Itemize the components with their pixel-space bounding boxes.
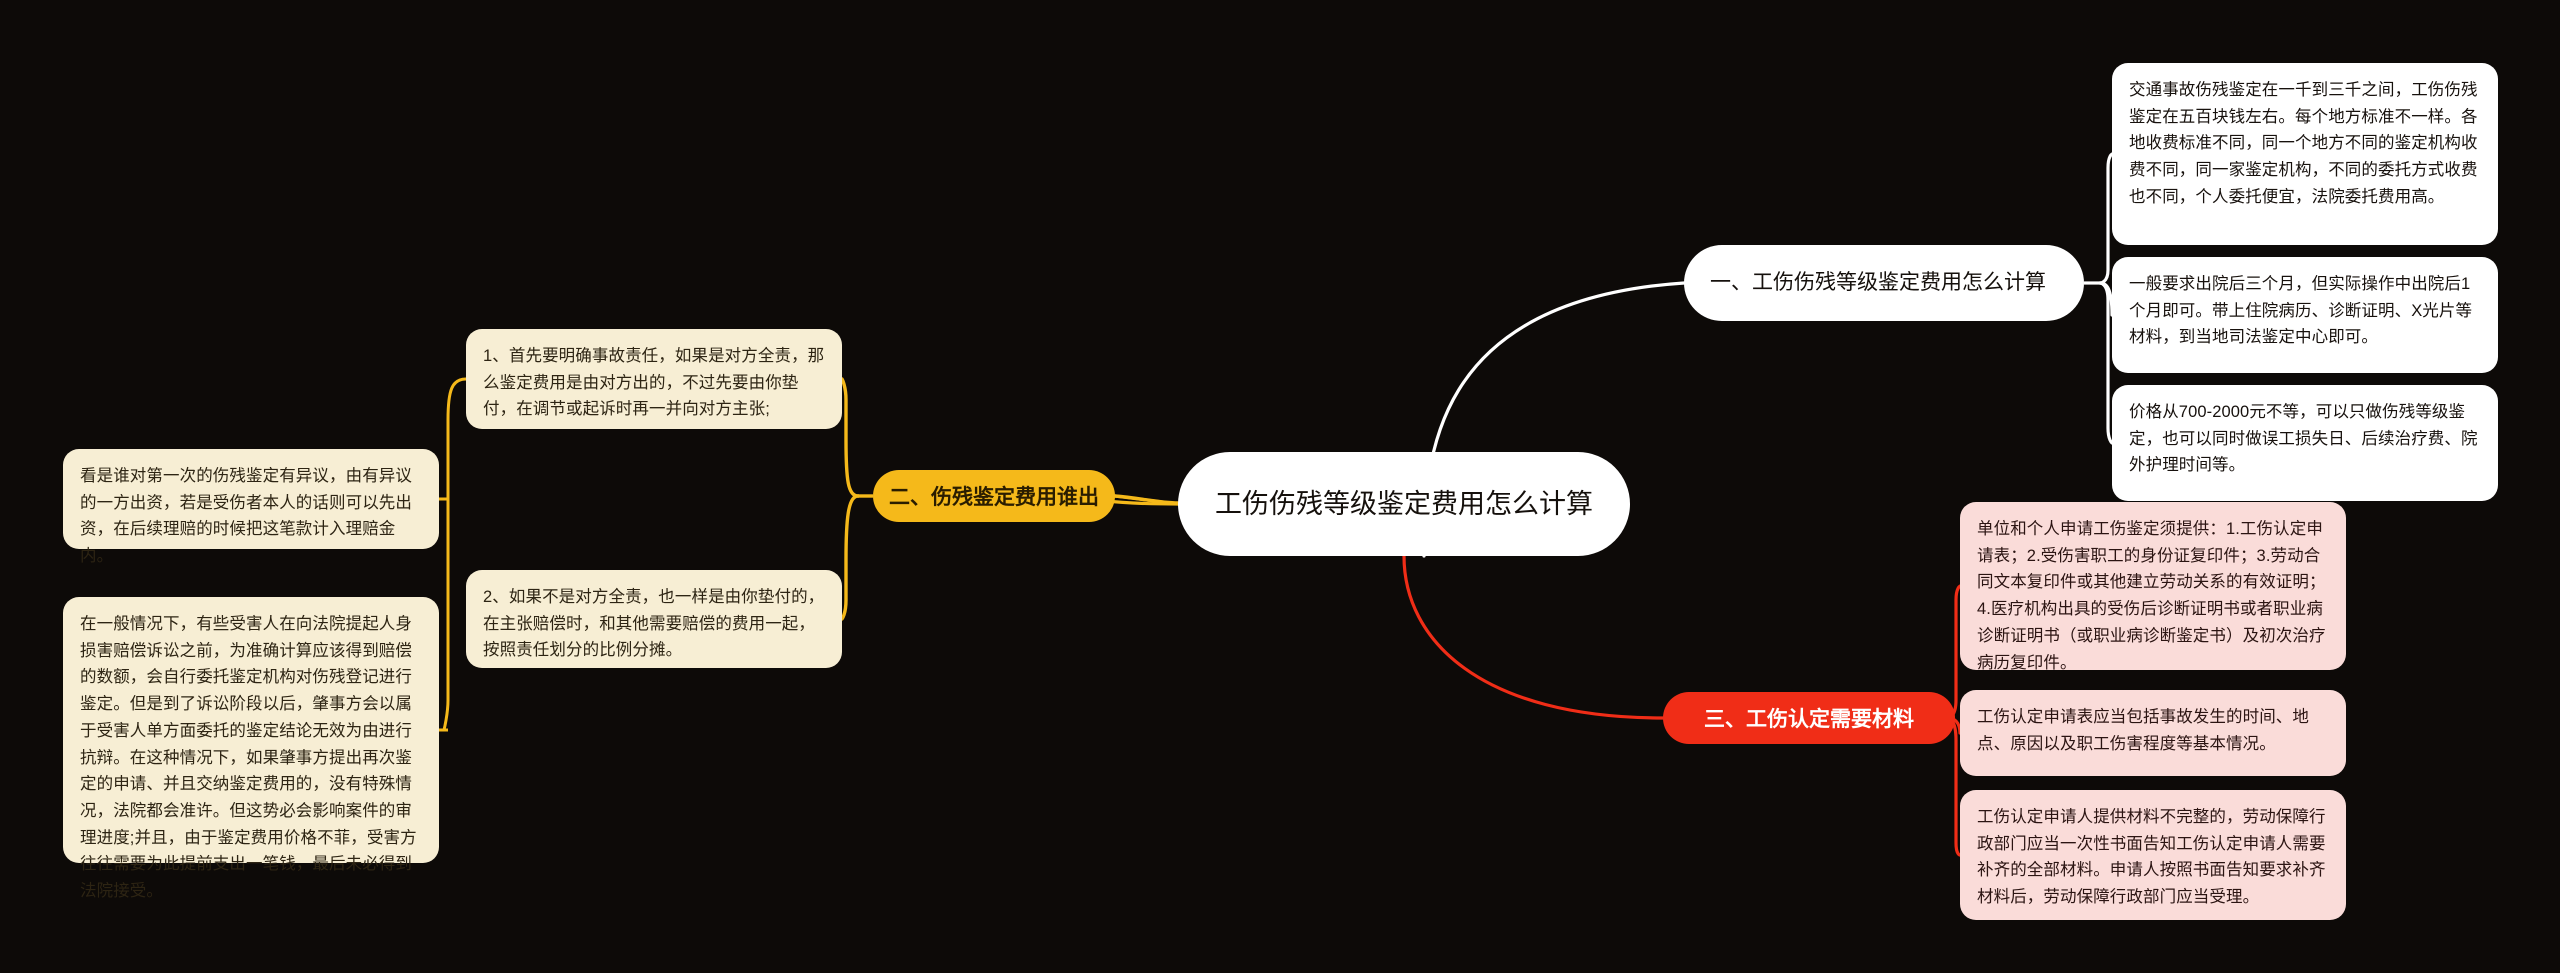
root-label: 工伤伤残等级鉴定费用怎么计算: [1215, 484, 1593, 525]
leaf-card-b1-1[interactable]: 交通事故伤残鉴定在一千到三千之间，工伤伤残鉴定在五百块钱左右。每个地方标准不一样…: [2112, 63, 2498, 245]
leaf-card-b2-sub-2[interactable]: 在一般情况下，有些受害人在向法院提起人身损害赔偿诉讼之前，为准确计算应该得到赔偿…: [63, 597, 439, 863]
leaf-text: 看是谁对第一次的伤残鉴定有异议，由有异议的一方出资，若是受伤者本人的话则可以先出…: [80, 467, 412, 565]
wire-bracket-left: [444, 420, 448, 730]
leaf-text: 单位和个人申请工伤鉴定须提供：1.工伤认定申请表；2.受伤害职工的身份证复印件；…: [1977, 520, 2326, 672]
branch-3-label: 三、工伤认定需要材料: [1704, 703, 1914, 733]
leaf-card-b3-2[interactable]: 工伤认定申请表应当包括事故发生的时间、地点、原因以及职工伤害程度等基本情况。: [1960, 690, 2346, 776]
wire-branch1-leaf2: [2100, 283, 2112, 315]
leaf-text: 交通事故伤残鉴定在一千到三千之间，工伤伤残鉴定在五百块钱左右。每个地方标准不一样…: [2129, 81, 2478, 206]
branch-1-label: 一、工伤伤残等级鉴定费用怎么计算: [1710, 267, 2046, 300]
wire-branch2-leaf2: [842, 496, 858, 619]
wire-branch1-leaf1: [2100, 154, 2112, 283]
leaf-card-b3-1[interactable]: 单位和个人申请工伤鉴定须提供：1.工伤认定申请表；2.受伤害职工的身份证复印件；…: [1960, 502, 2346, 670]
leaf-text: 工伤认定申请人提供材料不完整的，劳动保障行政部门应当一次性书面告知工伤认定申请人…: [1977, 808, 2326, 906]
leaf-text: 一般要求出院后三个月，但实际操作中出院后1个月即可。带上住院病历、诊断证明、X光…: [2129, 275, 2472, 346]
wire-branch3-leaf3: [1948, 718, 1960, 855]
leaf-card-b1-2[interactable]: 一般要求出院后三个月，但实际操作中出院后1个月即可。带上住院病历、诊断证明、X光…: [2112, 257, 2498, 373]
wire-leaf1-down: [448, 379, 466, 420]
leaf-text: 工伤认定申请表应当包括事故发生的时间、地点、原因以及职工伤害程度等基本情况。: [1977, 708, 2309, 753]
leaf-text: 在一般情况下，有些受害人在向法院提起人身损害赔偿诉讼之前，为准确计算应该得到赔偿…: [80, 615, 417, 900]
leaf-text: 价格从700-2000元不等，可以只做伤残等级鉴定，也可以同时做误工损失日、后续…: [2129, 403, 2478, 474]
leaf-text: 2、如果不是对方全责，也一样是由你垫付的，在主张赔偿时，和其他需要赔偿的费用一起…: [483, 588, 824, 659]
wire-branch2-leaf1: [842, 379, 858, 496]
branch-node-1[interactable]: 一、工伤伤残等级鉴定费用怎么计算: [1684, 245, 2084, 321]
mindmap-canvas: 工伤伤残等级鉴定费用怎么计算 一、工伤伤残等级鉴定费用怎么计算 交通事故伤残鉴定…: [0, 0, 2560, 973]
wire-branch3-leaf1: [1948, 586, 1960, 718]
leaf-text: 1、首先要明确事故责任，如果是对方全责，那么鉴定费用是由对方出的，不过先要由你垫…: [483, 347, 824, 418]
wire-branch1-leaf3: [2100, 283, 2112, 443]
root-node[interactable]: 工伤伤残等级鉴定费用怎么计算: [1178, 452, 1630, 556]
leaf-card-b1-3[interactable]: 价格从700-2000元不等，可以只做伤残等级鉴定，也可以同时做误工损失日、后续…: [2112, 385, 2498, 501]
wire-root-branch2: [1115, 496, 1178, 503]
leaf-card-b2-2[interactable]: 2、如果不是对方全责，也一样是由你垫付的，在主张赔偿时，和其他需要赔偿的费用一起…: [466, 570, 842, 668]
leaf-card-b2-sub-1[interactable]: 看是谁对第一次的伤残鉴定有异议，由有异议的一方出资，若是受伤者本人的话则可以先出…: [63, 449, 439, 549]
branch-node-3[interactable]: 三、工伤认定需要材料: [1663, 692, 1955, 744]
leaf-card-b2-1[interactable]: 1、首先要明确事故责任，如果是对方全责，那么鉴定费用是由对方出的，不过先要由你垫…: [466, 329, 842, 429]
wire-root-branch3: [1404, 556, 1663, 718]
branch-2-label: 二、伤残鉴定费用谁出: [889, 481, 1099, 511]
branch-node-2[interactable]: 二、伤残鉴定费用谁出: [873, 470, 1115, 522]
leaf-card-b3-3[interactable]: 工伤认定申请人提供材料不完整的，劳动保障行政部门应当一次性书面告知工伤认定申请人…: [1960, 790, 2346, 920]
